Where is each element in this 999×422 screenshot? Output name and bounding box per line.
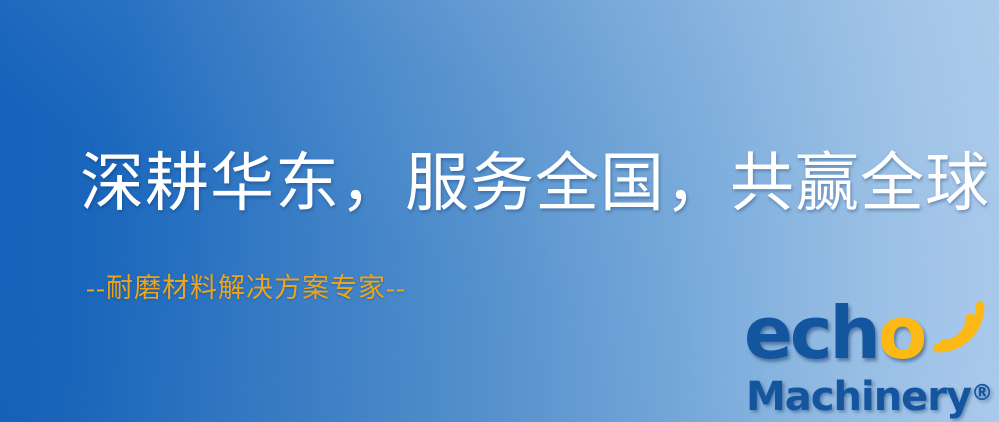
logo-wordmark: echo xyxy=(744,296,924,370)
banner-headline: 深耕华东，服务全国，共赢全球 xyxy=(80,150,990,217)
echo-machinery-logo[interactable]: echo Machinery® xyxy=(744,296,996,418)
banner-subtitle: --耐磨材料解决方案专家-- xyxy=(86,266,406,305)
logo-text-ech: ech xyxy=(744,291,878,375)
logo-tagline: Machinery® xyxy=(746,372,993,419)
registered-trademark-icon: ® xyxy=(971,381,993,406)
signal-arcs-icon xyxy=(930,294,994,354)
logo-tagline-text: Machinery xyxy=(746,374,971,420)
logo-text-o: o xyxy=(878,291,924,375)
promo-banner: 深耕华东，服务全国，共赢全球 --耐磨材料解决方案专家-- echo Machi… xyxy=(0,0,999,422)
